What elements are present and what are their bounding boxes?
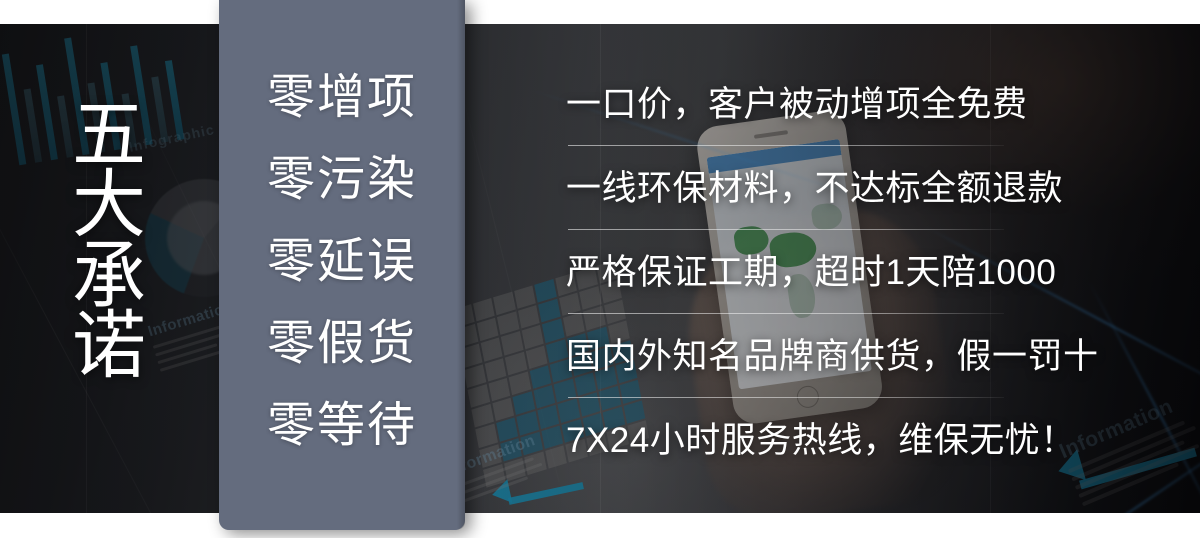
- zero-promises-panel: 零增项 零污染 零延误 零假货 零等待: [219, 0, 465, 530]
- panel-item-1: 零污染: [267, 156, 417, 204]
- promise-row: 一线环保材料，不达标全额退款: [566, 146, 1036, 230]
- promise-text-2: 严格保证工期，超时1天陪1000: [566, 255, 1056, 290]
- promise-text-1: 一线环保材料，不达标全额退款: [566, 171, 1063, 206]
- panel-item-2: 零延误: [267, 238, 417, 286]
- promise-row: 国内外知名品牌商供货，假一罚十: [566, 314, 1036, 398]
- promise-text-4: 7X24小时服务热线，维保无忧！: [566, 423, 1076, 458]
- promise-text-3: 国内外知名品牌商供货，假一罚十: [566, 339, 1099, 374]
- promise-list: 一口价，客户被动增项全免费 一线环保材料，不达标全额退款 严格保证工期，超时1天…: [566, 62, 1036, 482]
- panel-item-0: 零增项: [267, 74, 417, 122]
- page-title: 五大承诺: [72, 100, 158, 381]
- promo-banner-stage: Information Information Information Info…: [0, 0, 1200, 538]
- panel-item-4: 零等待: [267, 402, 417, 450]
- panel-item-3: 零假货: [267, 320, 417, 368]
- promise-row: 一口价，客户被动增项全免费: [566, 62, 1036, 146]
- promise-text-0: 一口价，客户被动增项全免费: [566, 87, 1028, 122]
- promise-row: 7X24小时服务热线，维保无忧！: [566, 398, 1036, 482]
- promise-row: 严格保证工期，超时1天陪1000: [566, 230, 1036, 314]
